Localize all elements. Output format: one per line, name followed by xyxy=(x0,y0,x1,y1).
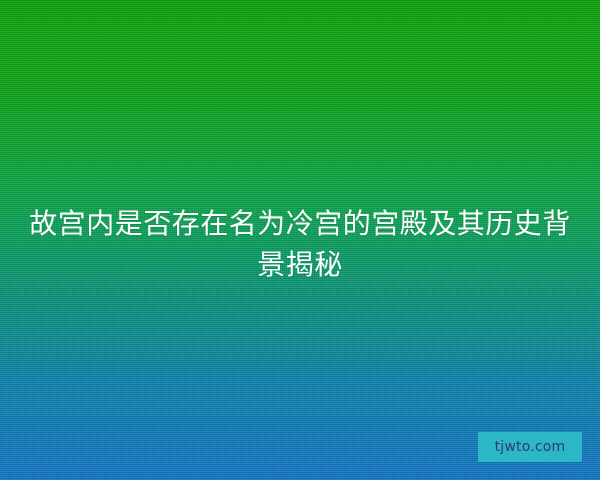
watermark-badge: tjwto.com xyxy=(478,432,582,462)
poster-canvas: 故宫内是否存在名为冷宫的宫殿及其历史背景揭秘 tjwto.com xyxy=(0,0,600,480)
watermark-text: tjwto.com xyxy=(495,439,566,455)
poster-title: 故宫内是否存在名为冷宫的宫殿及其历史背景揭秘 xyxy=(28,203,572,285)
